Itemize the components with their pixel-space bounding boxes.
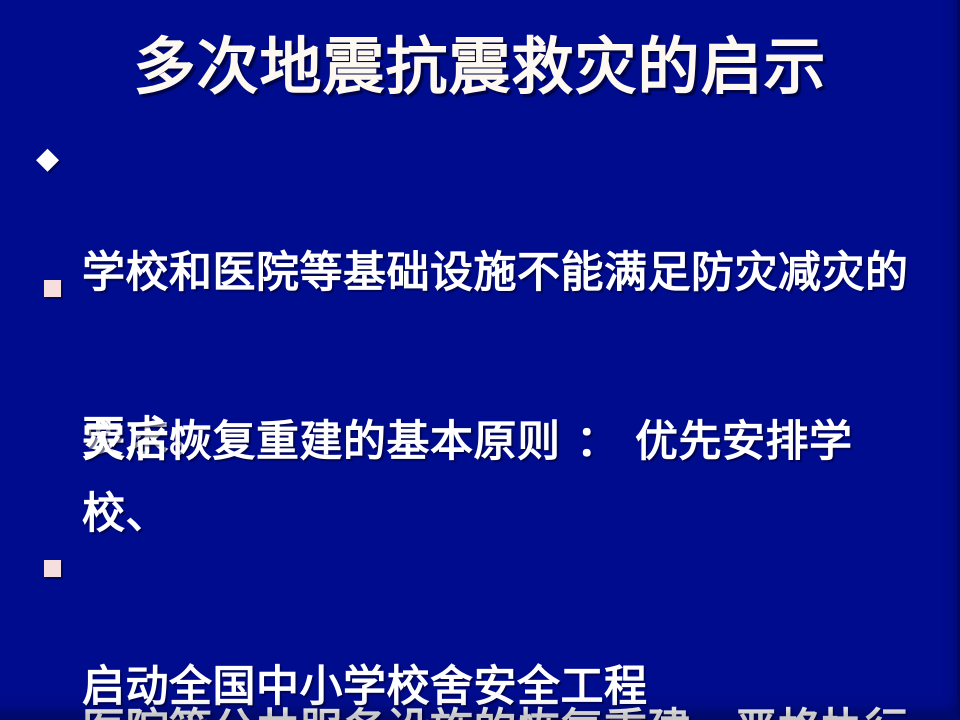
square-bullet-icon (36, 262, 82, 308)
square-bullet-icon (36, 542, 82, 588)
page-title: 多次地震抗震救灾的启示 (133, 34, 826, 99)
bullet-text: 启动全国中小学校舍安全工程 (82, 542, 648, 720)
slide-body: ◆ 学校和医院等基础设施不能满足防灾减灾的 要求。 灾后恢复重建的基本原则 ： … (0, 128, 960, 688)
diamond-bullet-icon: ◆ (36, 136, 82, 182)
bullet-line: 灾后恢复重建的基本原则 ： 优先安排学校、 (82, 406, 936, 550)
presentation-slide: 多次地震抗震救灾的启示 ◆ 学校和医院等基础设施不能满足防灾减灾的 要求。 灾后… (0, 0, 960, 720)
slide-title-area: 多次地震抗震救灾的启示 (0, 14, 960, 120)
bullet-line: 启动全国中小学校舍安全工程 (82, 658, 648, 716)
bullet-item: 启动全国中小学校舍安全工程 (36, 542, 936, 720)
